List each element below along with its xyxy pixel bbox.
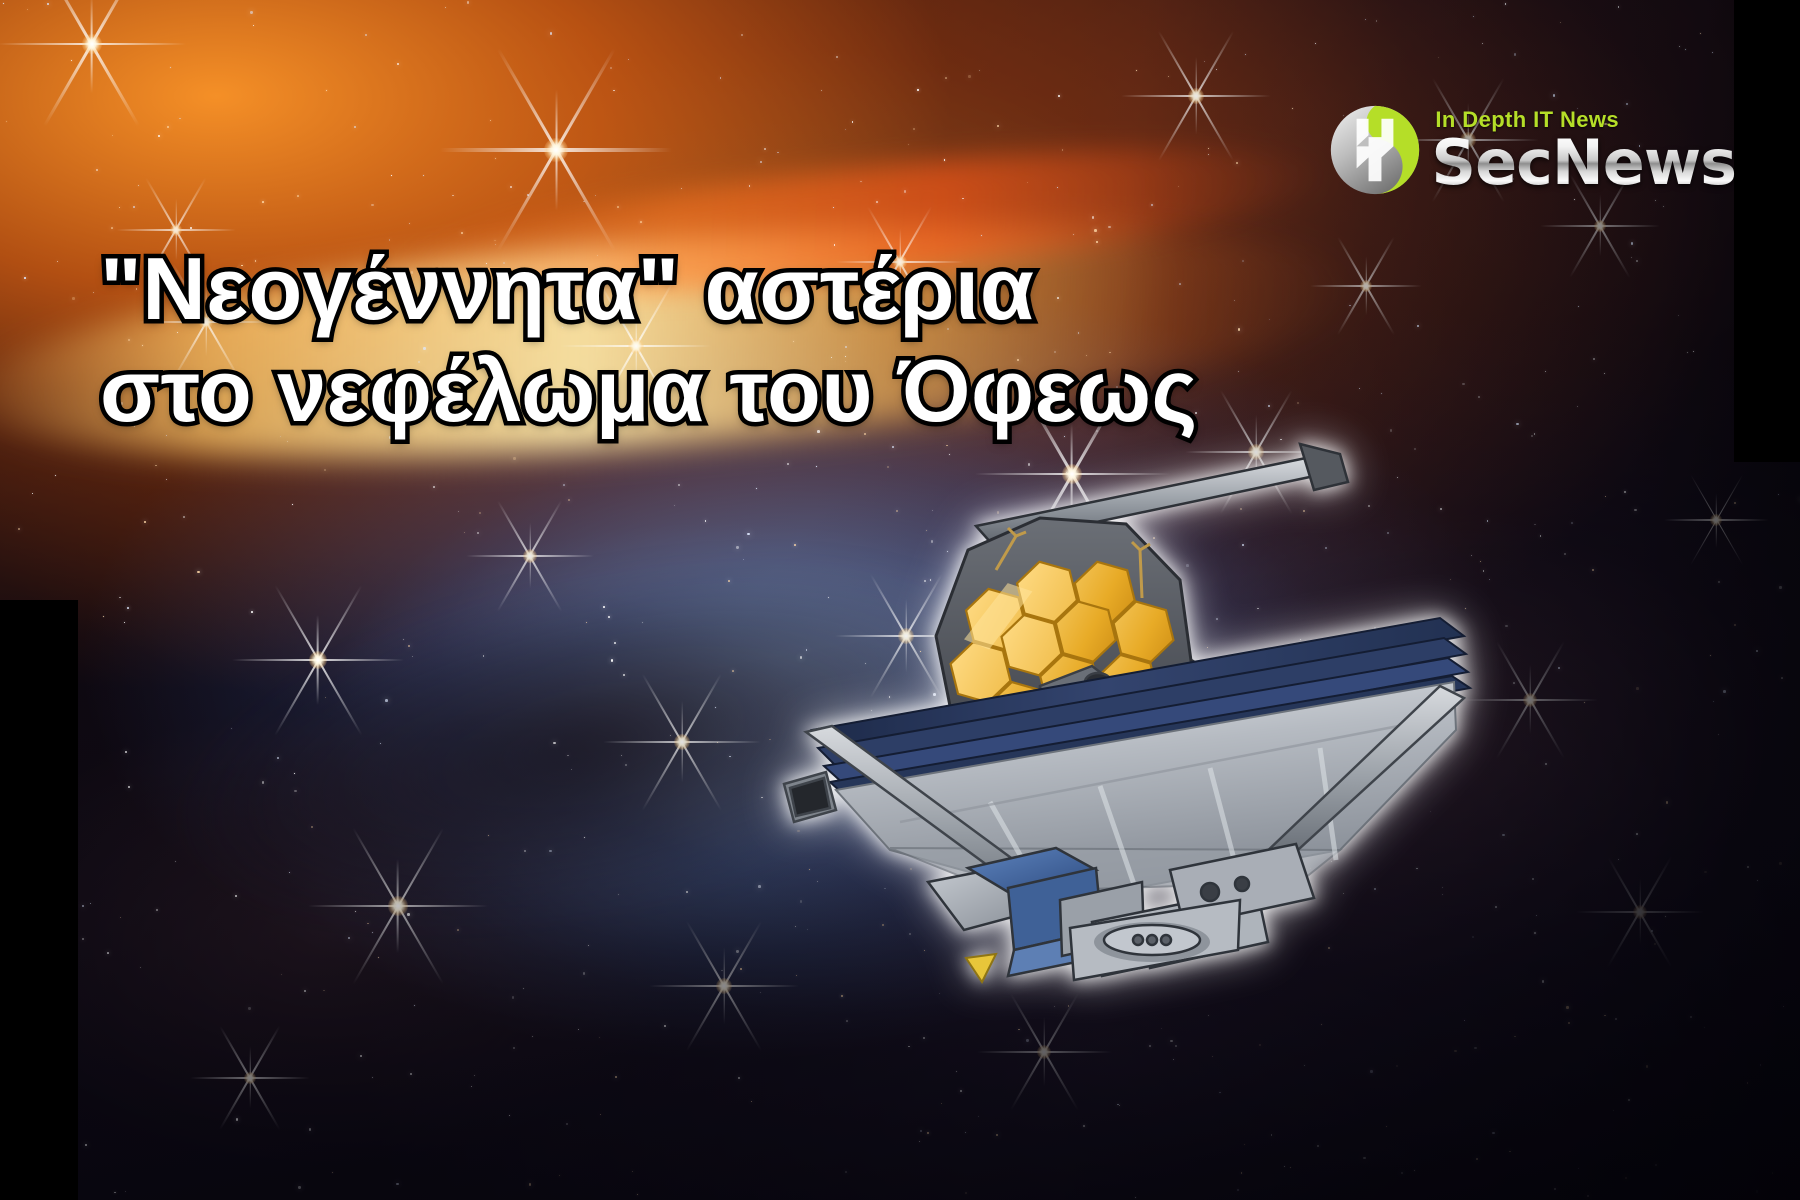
featured-image-canvas: "Νεογέννητα" αστέρια στο νεφέλωμα του Όφ… (0, 0, 1800, 1200)
jwst-thruster-marker (966, 954, 996, 982)
secnews-logo-text: In Depth IT News SecNews (1431, 109, 1736, 191)
letterbox-bar-right (1734, 0, 1800, 462)
page-title: "Νεογέννητα" αστέρια στο νεφέλωμα του Όφ… (100, 238, 1280, 442)
secnews-h-logo-icon (1329, 104, 1421, 196)
headline-line-1: "Νεογέννητα" αστέρια (100, 238, 1280, 340)
logo-wordmark: SecNews (1431, 134, 1736, 191)
jwst-illustration (740, 430, 1500, 990)
letterbox-bar-left (0, 600, 78, 1200)
headline-line-2: στο νεφέλωμα του Όφεως (100, 340, 1280, 442)
secnews-logo[interactable]: In Depth IT News SecNews (1329, 104, 1736, 196)
